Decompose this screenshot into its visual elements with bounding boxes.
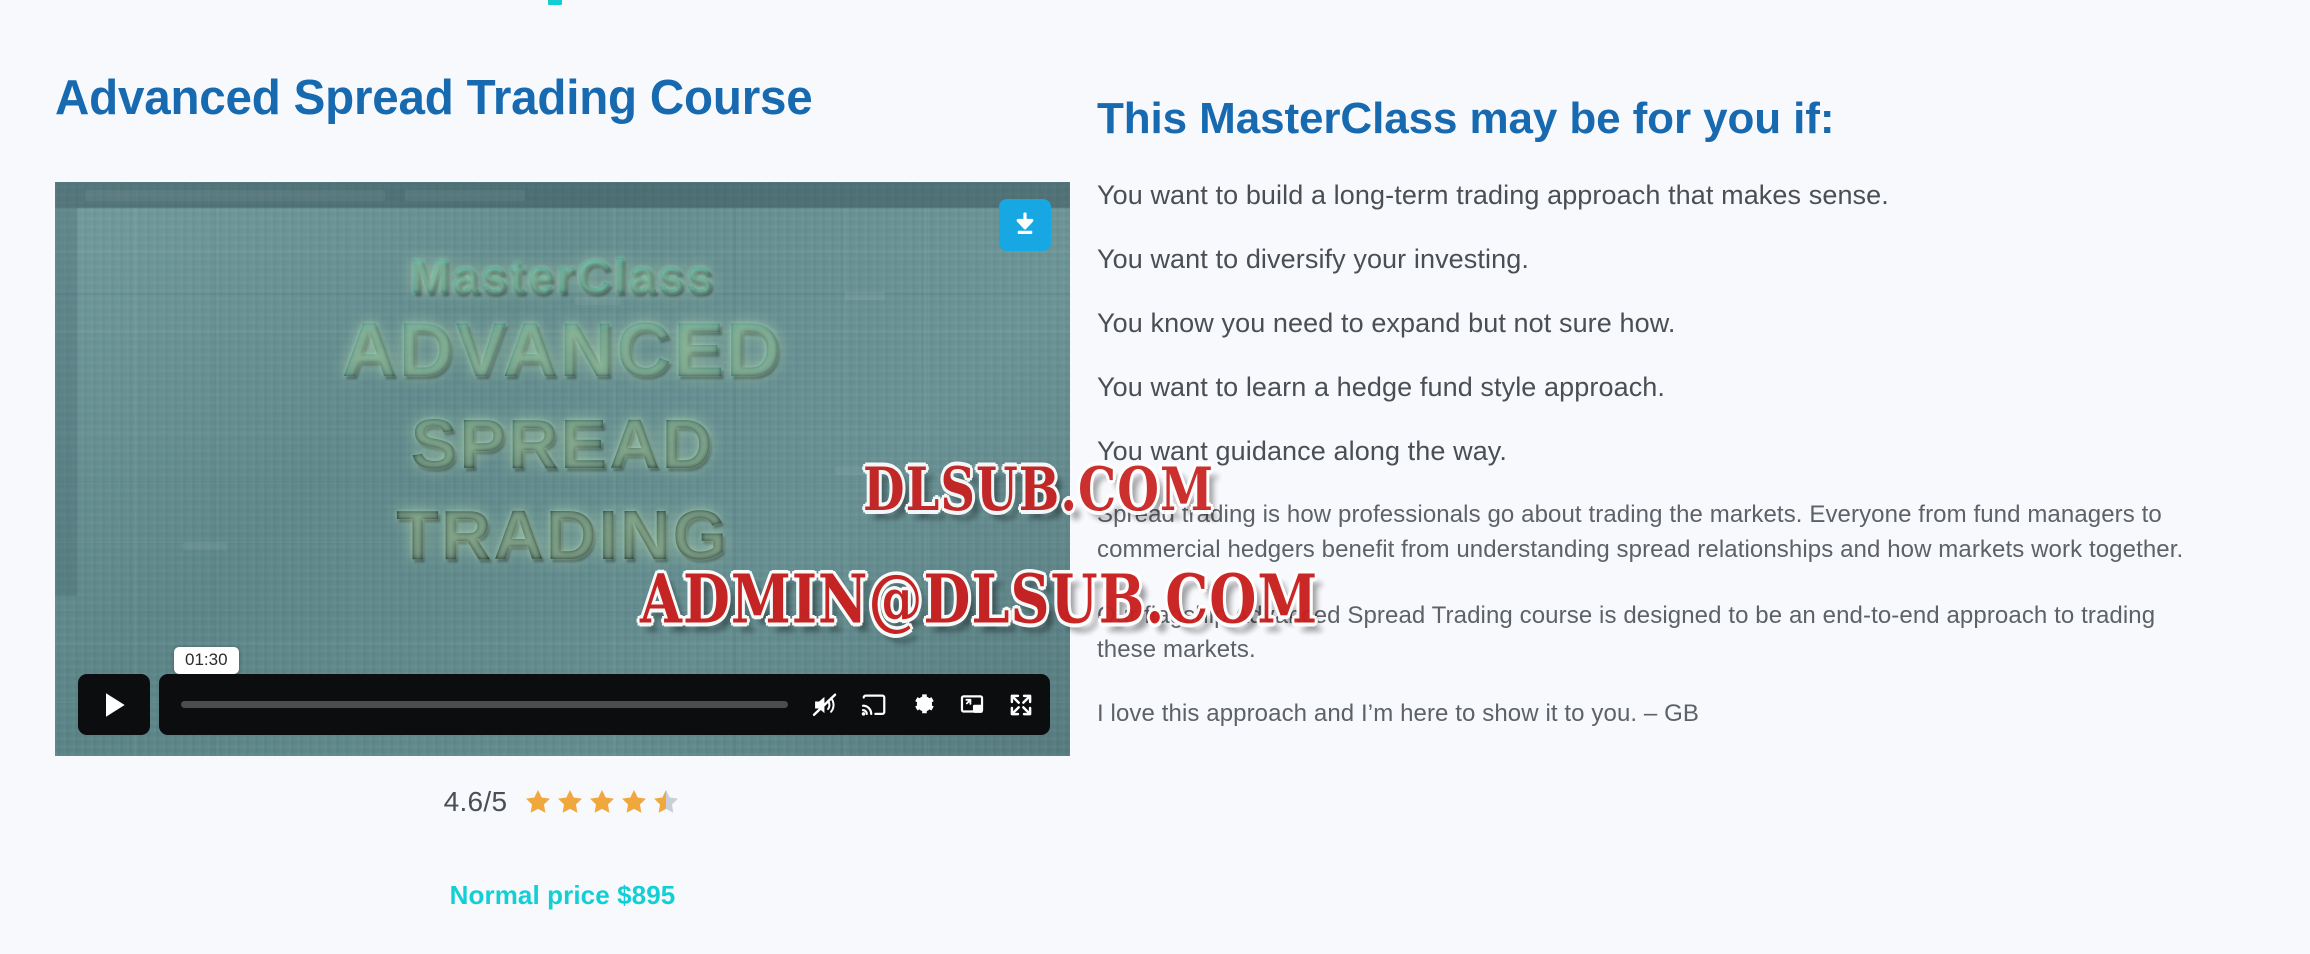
video-progress-slider[interactable] bbox=[181, 701, 788, 708]
settings-gear-icon[interactable] bbox=[908, 690, 938, 720]
play-button[interactable] bbox=[78, 674, 150, 735]
rating-stars bbox=[523, 787, 681, 817]
video-control-bar bbox=[159, 674, 1050, 735]
page-root: Advanced Spread Trading Course bbox=[0, 0, 2310, 954]
price-row: Normal price $895 bbox=[55, 880, 1070, 911]
download-button[interactable] bbox=[999, 199, 1051, 251]
video-control-icons bbox=[810, 690, 1036, 720]
cut-off-text-fragment bbox=[548, 0, 562, 5]
video-time-tooltip: 01:30 bbox=[174, 647, 239, 674]
description-paragraph: Spread trading is how professionals go a… bbox=[1097, 498, 2217, 566]
benefit-line: You want to build a long-term trading ap… bbox=[1097, 178, 2277, 212]
star-icon bbox=[523, 787, 553, 817]
price-label: Normal price $895 bbox=[450, 880, 676, 910]
benefit-line: You want to diversify your investing. bbox=[1097, 242, 2277, 276]
download-icon bbox=[1010, 210, 1040, 240]
video-player[interactable]: MasterClass ADVANCED SPREAD TRADING 01:3… bbox=[55, 182, 1070, 756]
mute-icon[interactable] bbox=[810, 690, 840, 720]
benefit-line: You know you need to expand but not sure… bbox=[1097, 306, 2277, 340]
signature-paragraph: I love this approach and I’m here to sho… bbox=[1097, 697, 2217, 731]
right-column: This MasterClass may be for you if: You … bbox=[1097, 95, 2277, 763]
star-half-icon bbox=[651, 787, 681, 817]
star-icon bbox=[587, 787, 617, 817]
cast-icon[interactable] bbox=[859, 690, 889, 720]
star-icon bbox=[555, 787, 585, 817]
rating-row: 4.6/5 bbox=[55, 786, 1070, 818]
benefit-line: You want guidance along the way. bbox=[1097, 434, 2277, 468]
page-title: Advanced Spread Trading Course bbox=[55, 72, 1044, 126]
fullscreen-icon[interactable] bbox=[1006, 690, 1036, 720]
picture-in-picture-icon[interactable] bbox=[957, 690, 987, 720]
play-icon bbox=[98, 688, 130, 722]
section-heading: This MasterClass may be for you if: bbox=[1097, 95, 2277, 143]
star-icon bbox=[619, 787, 649, 817]
benefit-line: You want to learn a hedge fund style app… bbox=[1097, 370, 2277, 404]
description-paragraph: Our flagship Advanced Spread Trading cou… bbox=[1097, 599, 2217, 667]
left-column: Advanced Spread Trading Course bbox=[55, 72, 1075, 126]
rating-value: 4.6/5 bbox=[444, 786, 508, 818]
